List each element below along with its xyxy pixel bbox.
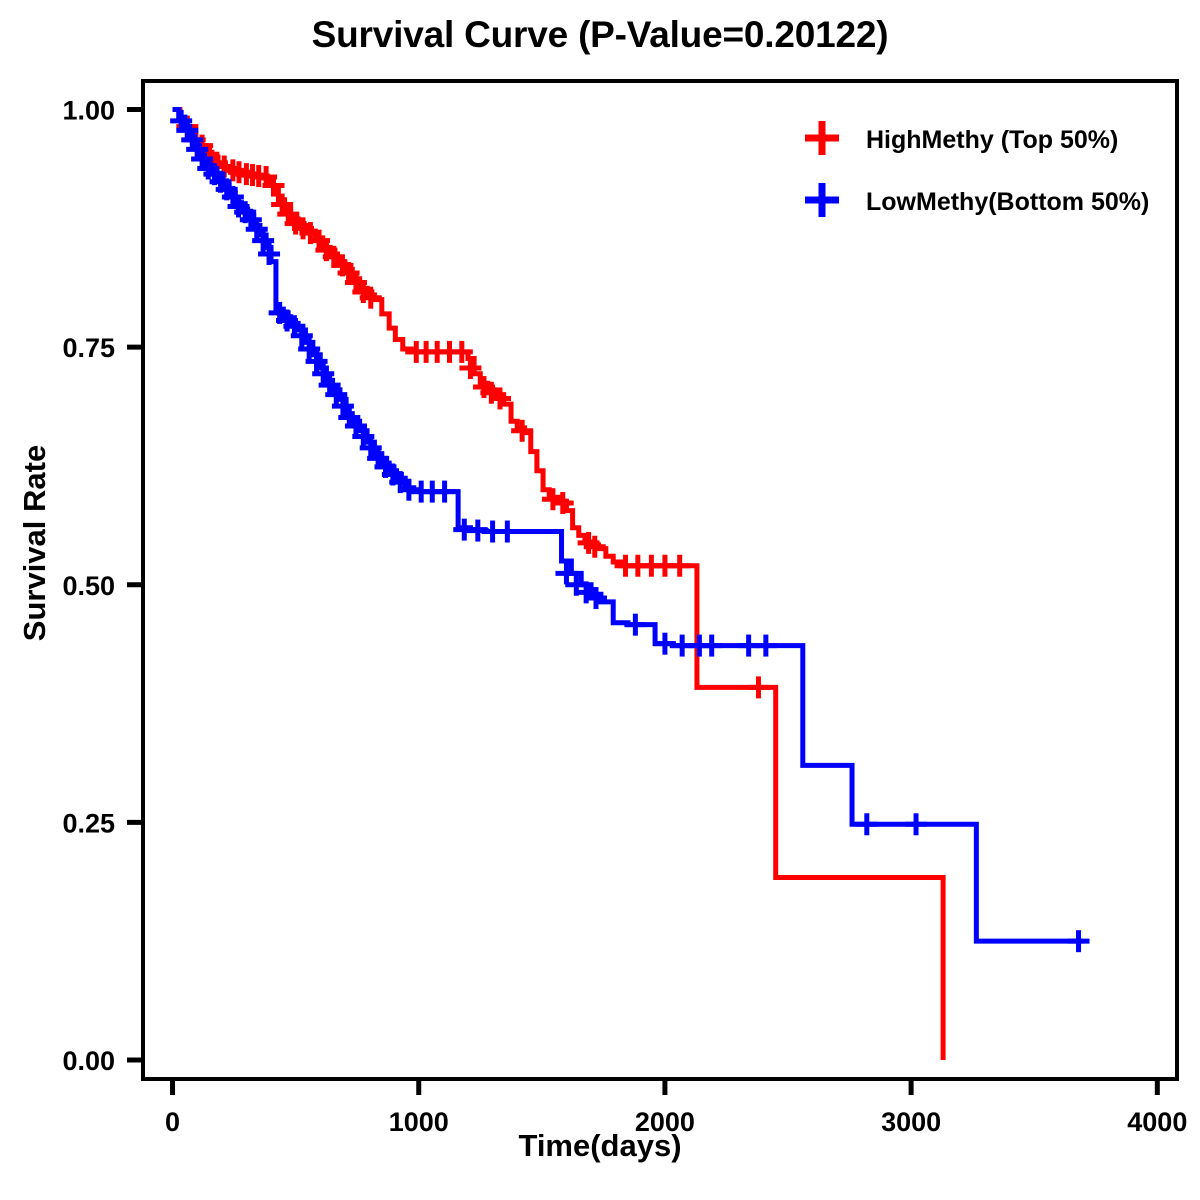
legend-label: HighMethy (Top 50%): [866, 126, 1118, 154]
y-tick-label: 0.50: [62, 571, 115, 601]
survival-curve-figure: Survival Curve (P-Value=0.20122) 0100020…: [0, 0, 1200, 1200]
survival-plot-canvas: 010002000300040000.000.250.500.751.00 Hi…: [0, 0, 1200, 1200]
legend-entry[interactable]: HighMethy (Top 50%): [805, 121, 1118, 155]
y-tick-label: 0.75: [62, 333, 115, 363]
x-axis-label: Time(days): [0, 1128, 1200, 1164]
data-series-group: [170, 110, 1089, 1060]
chart-legend: HighMethy (Top 50%)LowMethy(Bottom 50%): [805, 121, 1149, 217]
y-tick-label: 1.00: [62, 96, 115, 126]
y-tick-label: 0.00: [62, 1046, 115, 1076]
survival-step-line: [173, 110, 944, 1060]
axis-ticks: 010002000300040000.000.250.500.751.00: [62, 96, 1187, 1137]
legend-entry[interactable]: LowMethy(Bottom 50%): [805, 183, 1149, 217]
y-tick-label: 0.25: [62, 808, 115, 838]
y-axis-label: Survival Rate: [17, 393, 53, 693]
series-high-methy: [173, 110, 944, 1060]
legend-label: LowMethy(Bottom 50%): [866, 188, 1149, 216]
